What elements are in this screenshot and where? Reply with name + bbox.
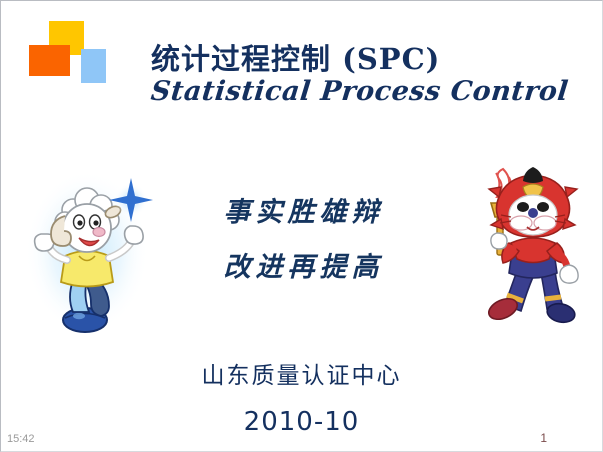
blue-square — [81, 49, 106, 83]
slogan-line-2: 改进再提高 — [181, 254, 426, 281]
presentation-slide: 统计过程控制 (SPC) Statistical Process Control — [0, 0, 603, 452]
clock-label: 15:42 — [7, 433, 35, 445]
slide-title-english: Statistical Process Control — [150, 78, 573, 106]
three-squares-logo — [29, 21, 111, 83]
presentation-date: 2010-10 — [1, 407, 602, 437]
page-number: 1 — [540, 431, 547, 445]
title-block: 统计过程控制 (SPC) Statistical Process Control — [151, 45, 571, 106]
slide-title-chinese: 统计过程控制 (SPC) — [151, 45, 571, 74]
slogan-block: 事实胜雄辩 改进再提高 — [181, 199, 426, 281]
organization-name: 山东质量认证中心 — [1, 356, 602, 390]
sheep-mascot — [21, 164, 156, 334]
slogan-line-1: 事实胜雄辩 — [181, 199, 426, 226]
lion-mascot — [483, 159, 583, 337]
orange-square — [29, 45, 70, 76]
